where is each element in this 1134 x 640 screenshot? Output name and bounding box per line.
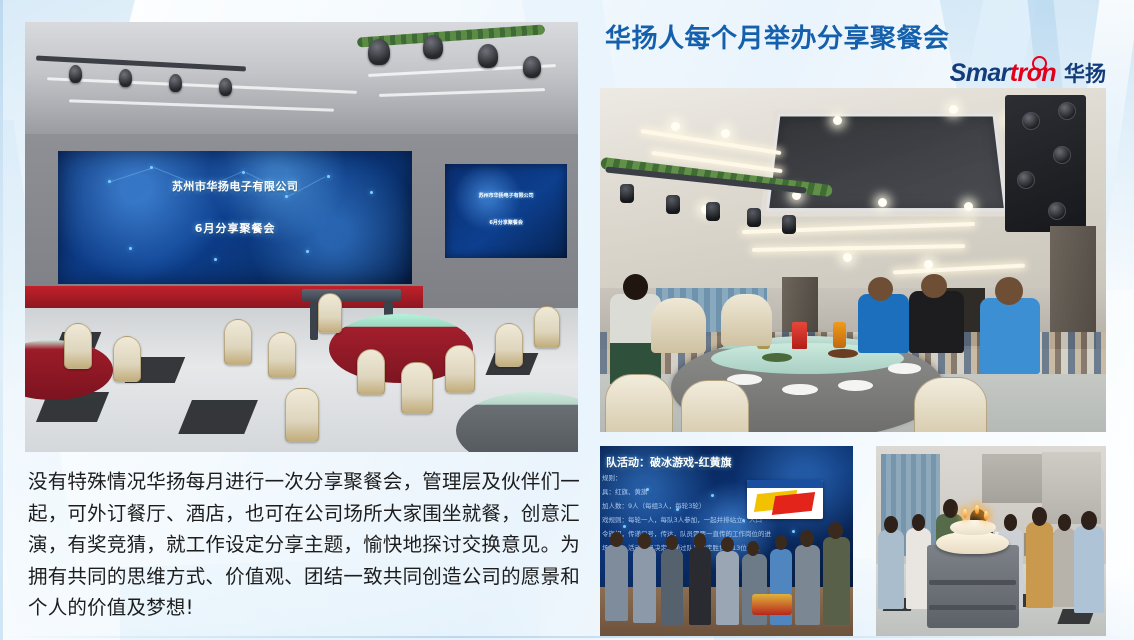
body-paragraph: 没有特殊情况华扬每月进行一次分享聚餐会，管理层及伙伴们一起，可外订餐厅、酒店，也…	[28, 466, 580, 624]
moving-head-light	[1048, 202, 1066, 220]
banner-line-3: 加人数：9人（每组3人，每轮3轮）	[602, 500, 705, 510]
led-side-company-name: 苏州市华扬电子有限公司	[445, 192, 567, 199]
birthday-cake-top	[950, 520, 996, 535]
card-header-bar	[747, 480, 823, 489]
led-screen-company-name: 苏州市华扬电子有限公司	[58, 178, 412, 194]
participant-person	[823, 537, 851, 624]
led-screen-event-name: 6月分享聚餐会	[58, 220, 412, 236]
person-head	[800, 530, 814, 547]
person-head	[921, 274, 946, 298]
banquet-chair	[357, 349, 385, 395]
guest-person	[878, 530, 903, 610]
participant-person	[661, 549, 684, 625]
photo-icebreaker-game: 队活动：破冰游戏-红黄旗 规则： 具：红旗、黄旗 加人数：9人（每组3人，每轮3…	[600, 446, 853, 636]
par-light	[782, 215, 796, 234]
participant-person	[795, 545, 820, 625]
hall-ceiling	[25, 22, 578, 134]
guest-person	[858, 294, 909, 352]
guest-person	[1074, 526, 1104, 613]
guest-person	[1026, 522, 1054, 608]
person-head	[638, 533, 651, 548]
stage-spotlight	[523, 56, 541, 78]
stage-spotlight	[69, 65, 82, 83]
stage-spotlight	[119, 69, 132, 87]
banquet-chair	[651, 298, 707, 353]
moving-head-light	[1053, 146, 1071, 164]
plate	[782, 384, 817, 395]
stage-spotlight	[423, 35, 443, 59]
bottom-accent-line	[0, 636, 1134, 638]
person-head	[610, 532, 623, 547]
brand-logo: Smar tron 华扬	[950, 58, 1106, 88]
logo-text-smar: Smar	[950, 59, 1010, 88]
cart-shelf	[929, 580, 1015, 585]
slide-header: 华扬人每个月举办分享聚餐会	[605, 24, 1075, 55]
ceiling-coffer-panel	[766, 114, 1007, 212]
person-head	[828, 522, 843, 539]
flag-illustration-card	[747, 480, 823, 519]
participant-person	[689, 547, 712, 625]
dish-of-food	[762, 353, 792, 362]
photo-cake-celebration	[876, 446, 1106, 636]
cart-shelf	[929, 605, 1015, 610]
photo-empty-banquet-hall: 苏州市华扬电子有限公司 6月分享聚餐会 苏州市华扬电子有限公司 6月分享聚餐会	[25, 22, 578, 452]
candle-flame	[975, 505, 979, 514]
guest-person	[909, 291, 965, 353]
guest-person	[980, 298, 1041, 374]
led-side-event-name: 6月分享聚餐会	[445, 219, 567, 226]
banner-line-5: 令旗帜，传递口号，传达，队员需要一直传的工作岗位的进	[602, 528, 771, 538]
plate	[888, 363, 921, 373]
banquet-chair	[224, 319, 252, 365]
person-head	[943, 499, 958, 518]
banquet-chair	[681, 380, 749, 432]
participant-person	[633, 547, 656, 623]
guest-person	[1053, 528, 1076, 608]
person-head	[694, 533, 707, 548]
banner-line-2: 具：红旗、黄旗	[602, 486, 648, 496]
serving-cart	[927, 545, 1019, 629]
stage-spotlight	[478, 44, 498, 68]
participant-person	[716, 551, 739, 625]
presentation-slide: 华扬人每个月举办分享聚餐会 Smar tron 华扬	[0, 0, 1134, 640]
banquet-chair	[113, 336, 141, 382]
moving-head-light	[1058, 102, 1076, 120]
participant-person	[605, 545, 628, 621]
par-light	[666, 195, 680, 214]
par-light	[747, 208, 761, 227]
beverage-bottle	[833, 322, 846, 348]
led-stage-screen: 苏州市华扬电子有限公司 6月分享聚餐会	[58, 151, 412, 284]
banquet-chair	[318, 293, 342, 333]
banquet-chair	[495, 323, 523, 367]
banquet-chair	[401, 362, 433, 414]
banner-line-4: 戏规则：每轮一人，每队3人参加，一起并排站立，人口	[602, 514, 762, 524]
wall-panel	[982, 454, 1042, 503]
desk-leg	[310, 302, 318, 341]
banquet-chair	[445, 345, 475, 393]
logo-ring-icon	[1032, 56, 1047, 71]
banquet-chair	[534, 306, 560, 348]
photo-banquet-hall-crowd	[600, 88, 1106, 432]
person-head	[995, 277, 1023, 305]
left-edge-accent-line	[0, 0, 3, 640]
stage-spotlight	[368, 39, 390, 65]
banquet-chair	[285, 388, 319, 442]
presenter-desk	[302, 289, 402, 302]
banquet-chair	[268, 332, 296, 378]
candle-flame	[984, 511, 988, 520]
centerpiece	[792, 322, 807, 350]
banquet-chair	[605, 374, 673, 432]
person-head	[623, 274, 648, 300]
logo-text-tron: tron	[1010, 59, 1056, 88]
stage-spotlight	[219, 78, 232, 96]
par-light	[706, 202, 720, 221]
page-title: 华扬人每个月举办分享聚餐会	[605, 24, 1075, 55]
banquet-chair	[64, 323, 92, 369]
led-side-screen: 苏州市华扬电子有限公司 6月分享聚餐会	[445, 164, 567, 259]
banquet-chair	[721, 294, 772, 346]
moving-head-light	[1017, 171, 1035, 189]
game-prop-flag	[752, 594, 792, 615]
banner-title: 队活动：破冰游戏-红黄旗	[606, 454, 732, 470]
red-flag-shape	[772, 492, 816, 515]
person-head	[1081, 511, 1097, 530]
par-light	[620, 184, 634, 203]
stage-spotlight	[169, 74, 182, 92]
logo-text-chinese: 华扬	[1064, 58, 1106, 88]
banquet-chair	[914, 377, 987, 432]
banner-line-1: 规则：	[602, 472, 622, 482]
